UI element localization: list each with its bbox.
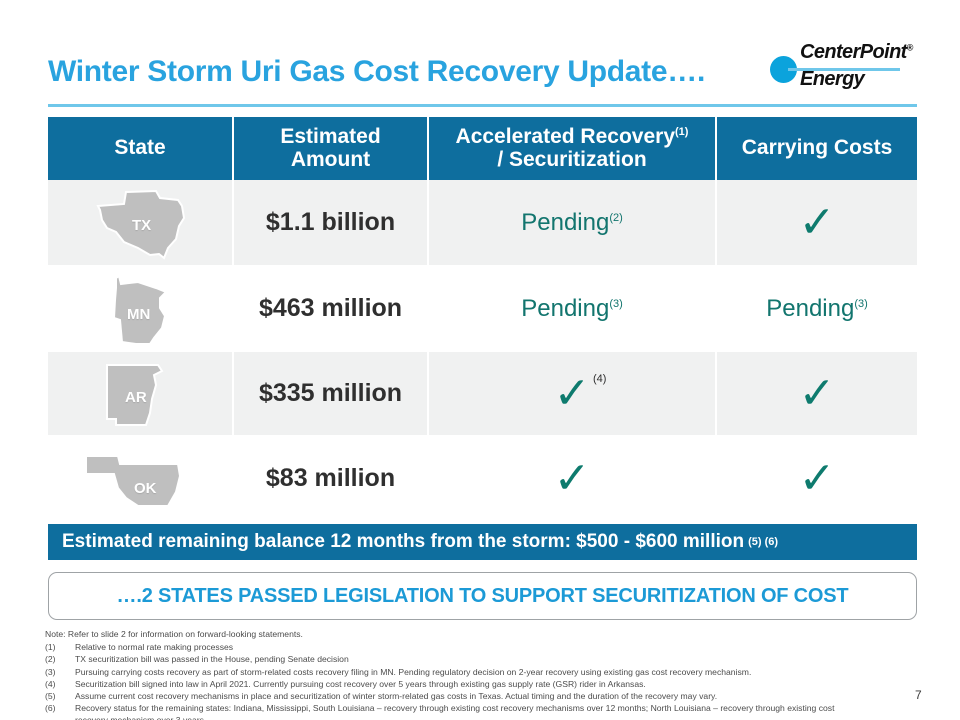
amount-value: $335 million: [259, 379, 402, 408]
status-pending: Pending(3): [521, 295, 623, 323]
amount-value: $1.1 billion: [266, 208, 395, 237]
footnote-item: (4) Securitization bill signed into law …: [45, 678, 910, 690]
col-amount-line2: Amount: [291, 148, 370, 171]
check-icon: ✓: [799, 372, 836, 416]
legislation-callout-text: ….2 STATES PASSED LEGISLATION TO SUPPORT…: [117, 585, 849, 608]
state-abbr-tx: TX: [132, 217, 151, 234]
table-row: MN $463 million Pending(3) Pending(3): [48, 265, 917, 350]
col-accel-line2: / Securitization: [497, 148, 646, 171]
status-pending: Pending(3): [766, 295, 868, 323]
check-glyph: ✓: [554, 369, 591, 418]
footnote-marker: (2): [45, 653, 75, 665]
check-glyph: ✓: [554, 454, 591, 503]
check-icon: ✓: [554, 457, 591, 501]
recovery-table: State Estimated Amount Accelerated Recov…: [48, 117, 917, 520]
col-amount-line1: Estimated: [280, 125, 380, 148]
centerpoint-energy-logo: CenterPoint® Energy: [770, 42, 920, 98]
column-header-accelerated-recovery-label: Accelerated Recovery(1) / Securitization: [456, 126, 689, 171]
status-footnote-ref: (3): [609, 298, 622, 310]
status-pending-text: Pending: [766, 295, 854, 322]
state-shape-texas: TX: [80, 184, 200, 262]
check-glyph: ✓: [799, 198, 836, 247]
legislation-callout-box: ….2 STATES PASSED LEGISLATION TO SUPPORT…: [48, 572, 917, 620]
amount-value: $83 million: [266, 464, 395, 493]
remaining-balance-banner: Estimated remaining balance 12 months fr…: [48, 524, 917, 560]
footnote-text: TX securitization bill was passed in the…: [75, 653, 910, 665]
table-header: State Estimated Amount Accelerated Recov…: [48, 117, 917, 180]
column-header-carrying-costs-label: Carrying Costs: [742, 137, 893, 160]
cell-carrying-mn: Pending(3): [717, 265, 917, 350]
footnote-text: Assume current cost recovery mechanisms …: [75, 690, 910, 702]
cell-amount-tx: $1.1 billion: [234, 180, 429, 265]
state-shape-minnesota: MN: [80, 270, 200, 348]
cell-state-mn: MN: [48, 265, 234, 350]
cell-accelerated-tx: Pending(2): [429, 180, 717, 265]
footnote-text: Recovery status for the remaining states…: [75, 702, 910, 714]
footnote-marker: (5): [45, 690, 75, 702]
cell-accelerated-mn: Pending(3): [429, 265, 717, 350]
cell-amount-ar: $335 million: [234, 350, 429, 435]
footnote-marker: (3): [45, 666, 75, 678]
cell-state-tx: TX: [48, 180, 234, 265]
state-shape-oklahoma: OK: [80, 440, 200, 518]
logo-name-top: CenterPoint®: [800, 42, 913, 63]
footnote-item: (6) Recovery status for the remaining st…: [45, 702, 910, 714]
col-accel-line1: Accelerated Recovery: [456, 125, 675, 148]
status-footnote-ref: (2): [609, 212, 622, 224]
table-row: AR $335 million ✓(4) ✓: [48, 350, 917, 435]
page-title: Winter Storm Uri Gas Cost Recovery Updat…: [48, 57, 705, 87]
status-pending: Pending(2): [521, 209, 623, 237]
oklahoma-map-icon: [80, 440, 200, 518]
footnotes: Note: Refer to slide 2 for information o…: [45, 628, 910, 720]
column-header-accelerated-recovery: Accelerated Recovery(1) / Securitization: [429, 117, 717, 180]
footnote-marker: (4): [45, 678, 75, 690]
footnote-item: (5) Assume current cost recovery mechani…: [45, 690, 910, 702]
cell-state-ar: AR: [48, 350, 234, 435]
table-header-row: State Estimated Amount Accelerated Recov…: [48, 117, 917, 180]
status-pending-text: Pending: [521, 209, 609, 236]
column-header-carrying-costs: Carrying Costs: [717, 117, 917, 180]
cell-carrying-ok: ✓: [717, 435, 917, 520]
remaining-balance-footnote-ref: (5) (6): [748, 536, 778, 548]
check-icon: ✓: [799, 457, 836, 501]
logo-name-top-text: CenterPoint: [800, 41, 907, 63]
registered-mark-icon: ®: [907, 42, 913, 52]
state-abbr-ok: OK: [134, 480, 157, 497]
column-header-estimated-amount-label: Estimated Amount: [280, 126, 380, 171]
footnote-note: Note: Refer to slide 2 for information o…: [45, 628, 910, 640]
state-abbr-ar: AR: [125, 389, 147, 406]
footnote-continuation: recovery mechanism over 3 years: [45, 714, 910, 720]
footnote-text: Pursuing carrying costs recovery as part…: [75, 666, 910, 678]
remaining-balance-text: Estimated remaining balance 12 months fr…: [62, 531, 744, 553]
status-footnote-ref: (3): [854, 298, 867, 310]
column-header-state-label: State: [114, 137, 165, 160]
cell-amount-mn: $463 million: [234, 265, 429, 350]
col-accel-footnote-ref: (1): [675, 126, 688, 138]
footnote-item: (2) TX securitization bill was passed in…: [45, 653, 910, 665]
footnote-text: Securitization bill signed into law in A…: [75, 678, 910, 690]
cell-carrying-ar: ✓: [717, 350, 917, 435]
state-shape-arkansas: AR: [80, 355, 200, 433]
page-number: 7: [915, 688, 922, 702]
status-pending-text: Pending: [521, 295, 609, 322]
cell-carrying-tx: ✓: [717, 180, 917, 265]
check-icon: ✓: [799, 201, 836, 245]
footnote-marker: (1): [45, 641, 75, 653]
footnote-item: (3) Pursuing carrying costs recovery as …: [45, 666, 910, 678]
column-header-state: State: [48, 117, 234, 180]
check-icon: ✓(4): [554, 372, 591, 416]
amount-value: $463 million: [259, 294, 402, 323]
title-divider: [48, 104, 917, 107]
footnote-item: (1) Relative to normal rate making proce…: [45, 641, 910, 653]
table-row: TX $1.1 billion Pending(2) ✓: [48, 180, 917, 265]
logo-name-bottom: Energy: [800, 69, 864, 90]
check-glyph: ✓: [799, 454, 836, 503]
footnote-text: Relative to normal rate making processes: [75, 641, 910, 653]
table-row: OK $83 million ✓ ✓: [48, 435, 917, 520]
check-footnote-ref: (4): [593, 374, 606, 385]
cell-state-ok: OK: [48, 435, 234, 520]
footnote-marker: (6): [45, 702, 75, 714]
cell-accelerated-ok: ✓: [429, 435, 717, 520]
table-body: TX $1.1 billion Pending(2) ✓: [48, 180, 917, 520]
cell-amount-ok: $83 million: [234, 435, 429, 520]
column-header-estimated-amount: Estimated Amount: [234, 117, 429, 180]
slide: Winter Storm Uri Gas Cost Recovery Updat…: [0, 0, 960, 720]
state-abbr-mn: MN: [127, 306, 150, 323]
cell-accelerated-ar: ✓(4): [429, 350, 717, 435]
check-glyph: ✓: [799, 369, 836, 418]
